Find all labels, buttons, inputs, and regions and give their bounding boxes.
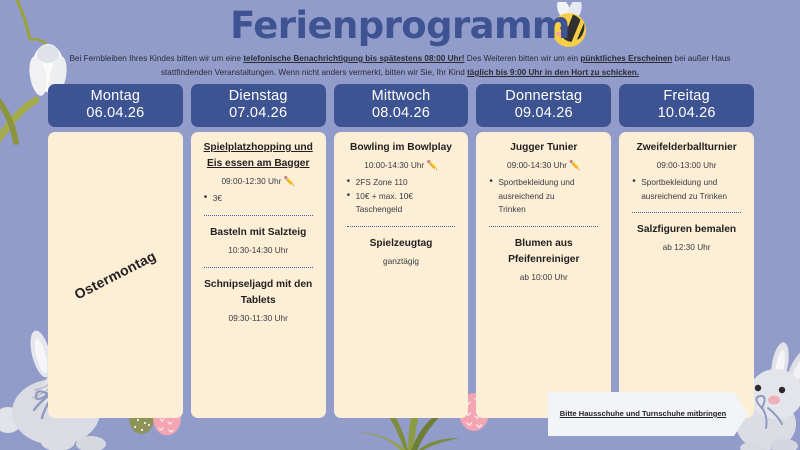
day-column-montag: Montag 06.04.26 Ostermontag (48, 84, 183, 418)
intro-text-1: Bei Fernbleiben Ihres Kindes bitten wir … (69, 54, 243, 63)
day-body-dienstag: Spielplatzhopping und Eis essen am Bagge… (191, 132, 326, 418)
page-title: Ferienprogramm (0, 4, 800, 47)
day-header-donnerstag[interactable]: Donnerstag 09.04.26 (476, 84, 611, 127)
event-bullet: Sportbekleidung und (487, 176, 604, 190)
event-bullet-cont: Trinken (487, 203, 604, 217)
event-item: Jugger Tunier 09:00-14:30 Uhr ✏️ Sportbe… (483, 140, 604, 217)
day-body-montag: Ostermontag (48, 132, 183, 418)
event-title: Schnipseljagd mit den Tablets (198, 277, 319, 309)
event-title: Salzfiguren bemalen (626, 222, 747, 238)
event-item: Spielplatzhopping und Eis essen am Bagge… (198, 140, 319, 206)
event-item: Bowling im Bowlplay 10:00-14:30 Uhr ✏️ 2… (341, 140, 462, 217)
shoe-reminder-text: Bitte Hausschuhe und Turnschuhe mitbring… (560, 408, 737, 420)
intro-text-2: Des Weiteren bitten wir um ein (464, 54, 580, 63)
event-item: Schnipseljagd mit den Tablets 09:30-11:3… (198, 277, 319, 326)
event-time: 09:00-13:00 Uhr (626, 158, 747, 173)
intro-highlight-daily: täglich bis 9:00 Uhr in den Hort zu schi… (467, 68, 639, 77)
day-date: 08.04.26 (336, 105, 467, 122)
event-bullet: 3€ (202, 192, 319, 206)
event-time: 09:00-14:30 Uhr ✏️ (483, 158, 604, 173)
day-date: 07.04.26 (193, 105, 324, 122)
day-header-montag[interactable]: Montag 06.04.26 (48, 84, 183, 127)
ostermontag-label: Ostermontag (72, 248, 159, 303)
event-bullet: Sportbekleidung und (630, 176, 747, 190)
event-time: 10:30-14:30 Uhr (198, 243, 319, 258)
day-column-donnerstag: Donnerstag 09.04.26 Jugger Tunier 09:00-… (476, 84, 611, 418)
event-bullet: 10€ + max. 10€ (345, 190, 462, 204)
intro-highlight-punctual: pünktliches Erscheinen (580, 54, 672, 63)
event-bullet-cont: ausreichend zu (487, 190, 604, 204)
event-item: Salzfiguren bemalen ab 12:30 Uhr (626, 222, 747, 255)
event-title: Basteln mit Salzteig (198, 225, 319, 241)
day-date: 10.04.26 (621, 105, 752, 122)
event-bullet-cont: ausreichend zu Trinken (630, 190, 747, 204)
day-body-mittwoch: Bowling im Bowlplay 10:00-14:30 Uhr ✏️ 2… (334, 132, 469, 418)
day-name: Donnerstag (478, 88, 609, 105)
event-bullets: Sportbekleidung und ausreichend zu Trink… (626, 176, 747, 203)
day-name: Montag (50, 88, 181, 105)
event-title: Spielzeugtag (341, 236, 462, 252)
ferienprogramm-poster: Ferienprogramm Bei Fernbleiben Ihres Kin… (0, 0, 800, 450)
day-body-donnerstag: Jugger Tunier 09:00-14:30 Uhr ✏️ Sportbe… (476, 132, 611, 418)
event-time-text: 09:00-12:30 Uhr (221, 176, 281, 186)
day-name: Freitag (621, 88, 752, 105)
event-time: ab 12:30 Uhr (626, 240, 747, 255)
intro-highlight-phone: telefonische Benachrichtigung bis spätes… (243, 54, 464, 63)
event-time-text: 09:00-14:30 Uhr (507, 160, 567, 170)
day-column-freitag: Freitag 10.04.26 Zweifelderballturnier 0… (619, 84, 754, 418)
day-name: Dienstag (193, 88, 324, 105)
pencil-icon: ✏️ (569, 160, 580, 170)
section-divider (489, 226, 598, 227)
event-item: Spielzeugtag ganztägig (341, 236, 462, 269)
event-bullet: 2FS Zone 110 (345, 176, 462, 190)
event-time: 09:00-12:30 Uhr ✏️ (198, 174, 319, 189)
pencil-icon: ✏️ (284, 176, 295, 186)
event-bullets: 3€ (198, 192, 319, 206)
section-divider (204, 215, 313, 216)
event-item: Blumen aus Pfeifenreiniger ab 10:00 Uhr (483, 236, 604, 285)
event-title: Zweifelderballturnier (626, 140, 747, 156)
event-time: 10:00-14:30 Uhr ✏️ (341, 158, 462, 173)
event-item: Basteln mit Salzteig 10:30-14:30 Uhr (198, 225, 319, 258)
event-title: Jugger Tunier (483, 140, 604, 156)
event-time: ab 10:00 Uhr (483, 270, 604, 285)
day-header-freitag[interactable]: Freitag 10.04.26 (619, 84, 754, 127)
shoe-reminder-banner: Bitte Hausschuhe und Turnschuhe mitbring… (548, 392, 748, 436)
event-bullets: Sportbekleidung und ausreichend zu Trink… (483, 176, 604, 217)
event-title: Spielplatzhopping und Eis essen am Bagge… (198, 140, 319, 172)
section-divider (632, 212, 741, 213)
event-item: Zweifelderballturnier 09:00-13:00 Uhr Sp… (626, 140, 747, 203)
day-header-dienstag[interactable]: Dienstag 07.04.26 (191, 84, 326, 127)
day-date: 06.04.26 (50, 105, 181, 122)
day-date: 09.04.26 (478, 105, 609, 122)
section-divider (204, 267, 313, 268)
event-bullets: 2FS Zone 110 10€ + max. 10€ Taschengeld (341, 176, 462, 217)
day-name: Mittwoch (336, 88, 467, 105)
day-column-dienstag: Dienstag 07.04.26 Spielplatzhopping und … (191, 84, 326, 418)
event-title: Blumen aus Pfeifenreiniger (483, 236, 604, 268)
day-column-mittwoch: Mittwoch 08.04.26 Bowling im Bowlplay 10… (334, 84, 469, 418)
event-time: ganztägig (341, 254, 462, 269)
event-title: Bowling im Bowlplay (341, 140, 462, 156)
event-time: 09:30-11:30 Uhr (198, 311, 319, 326)
week-grid: Montag 06.04.26 Ostermontag Dienstag 07.… (48, 84, 754, 418)
pencil-icon: ✏️ (427, 160, 438, 170)
event-bullet-cont: Taschengeld (345, 203, 462, 217)
event-time-text: 10:00-14:30 Uhr (364, 160, 424, 170)
day-body-freitag: Zweifelderballturnier 09:00-13:00 Uhr Sp… (619, 132, 754, 418)
day-header-mittwoch[interactable]: Mittwoch 08.04.26 (334, 84, 469, 127)
intro-paragraph: Bei Fernbleiben Ihres Kindes bitten wir … (48, 52, 752, 80)
section-divider (347, 226, 456, 227)
